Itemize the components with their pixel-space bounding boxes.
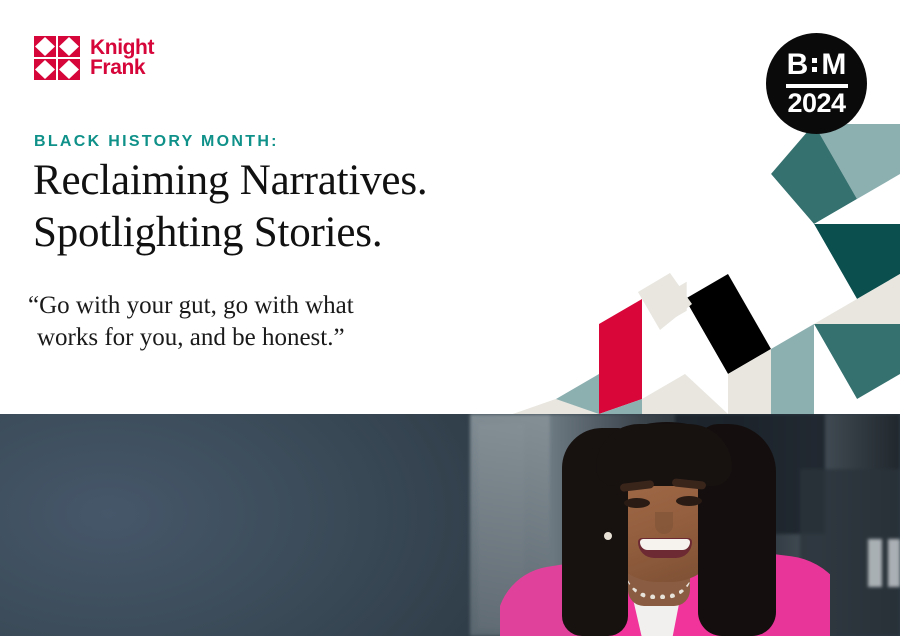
quote-line-1: “Go with your gut, go with what <box>28 290 458 322</box>
knight-frank-logo[interactable]: Knight Frank <box>34 36 154 80</box>
bottom-photo-panel <box>0 414 900 636</box>
logo-line-2: Frank <box>90 58 154 78</box>
bhm-2024-badge[interactable]: B M 2024 <box>766 33 867 134</box>
bhm-letter-m: M <box>821 50 846 80</box>
page-title: Reclaiming Narratives. Spotlighting Stor… <box>33 155 553 259</box>
knight-frank-wordmark: Knight Frank <box>90 38 154 78</box>
bhm-letter-b: B <box>787 50 809 80</box>
portrait-photo <box>500 414 830 636</box>
eyebrow-label: BLACK HISTORY MONTH: <box>34 133 279 151</box>
headline-line-1: Reclaiming Narratives. <box>33 155 553 207</box>
top-panel: Knight Frank B M 2024 BLACK HISTORY MONT… <box>0 0 900 414</box>
poster-canvas: Knight Frank B M 2024 BLACK HISTORY MONT… <box>0 0 900 636</box>
colon-icon <box>811 58 818 72</box>
quote-line-2: works for you, and be honest.” <box>28 322 458 354</box>
logo-line-1: Knight <box>90 38 154 58</box>
headline-line-2: Spotlighting Stories. <box>33 207 553 259</box>
knight-frank-diamond-mark-icon <box>34 36 80 80</box>
pull-quote: “Go with your gut, go with what works fo… <box>28 290 458 354</box>
bhm-lockup: B M <box>787 50 847 80</box>
bhm-year: 2024 <box>787 90 845 117</box>
